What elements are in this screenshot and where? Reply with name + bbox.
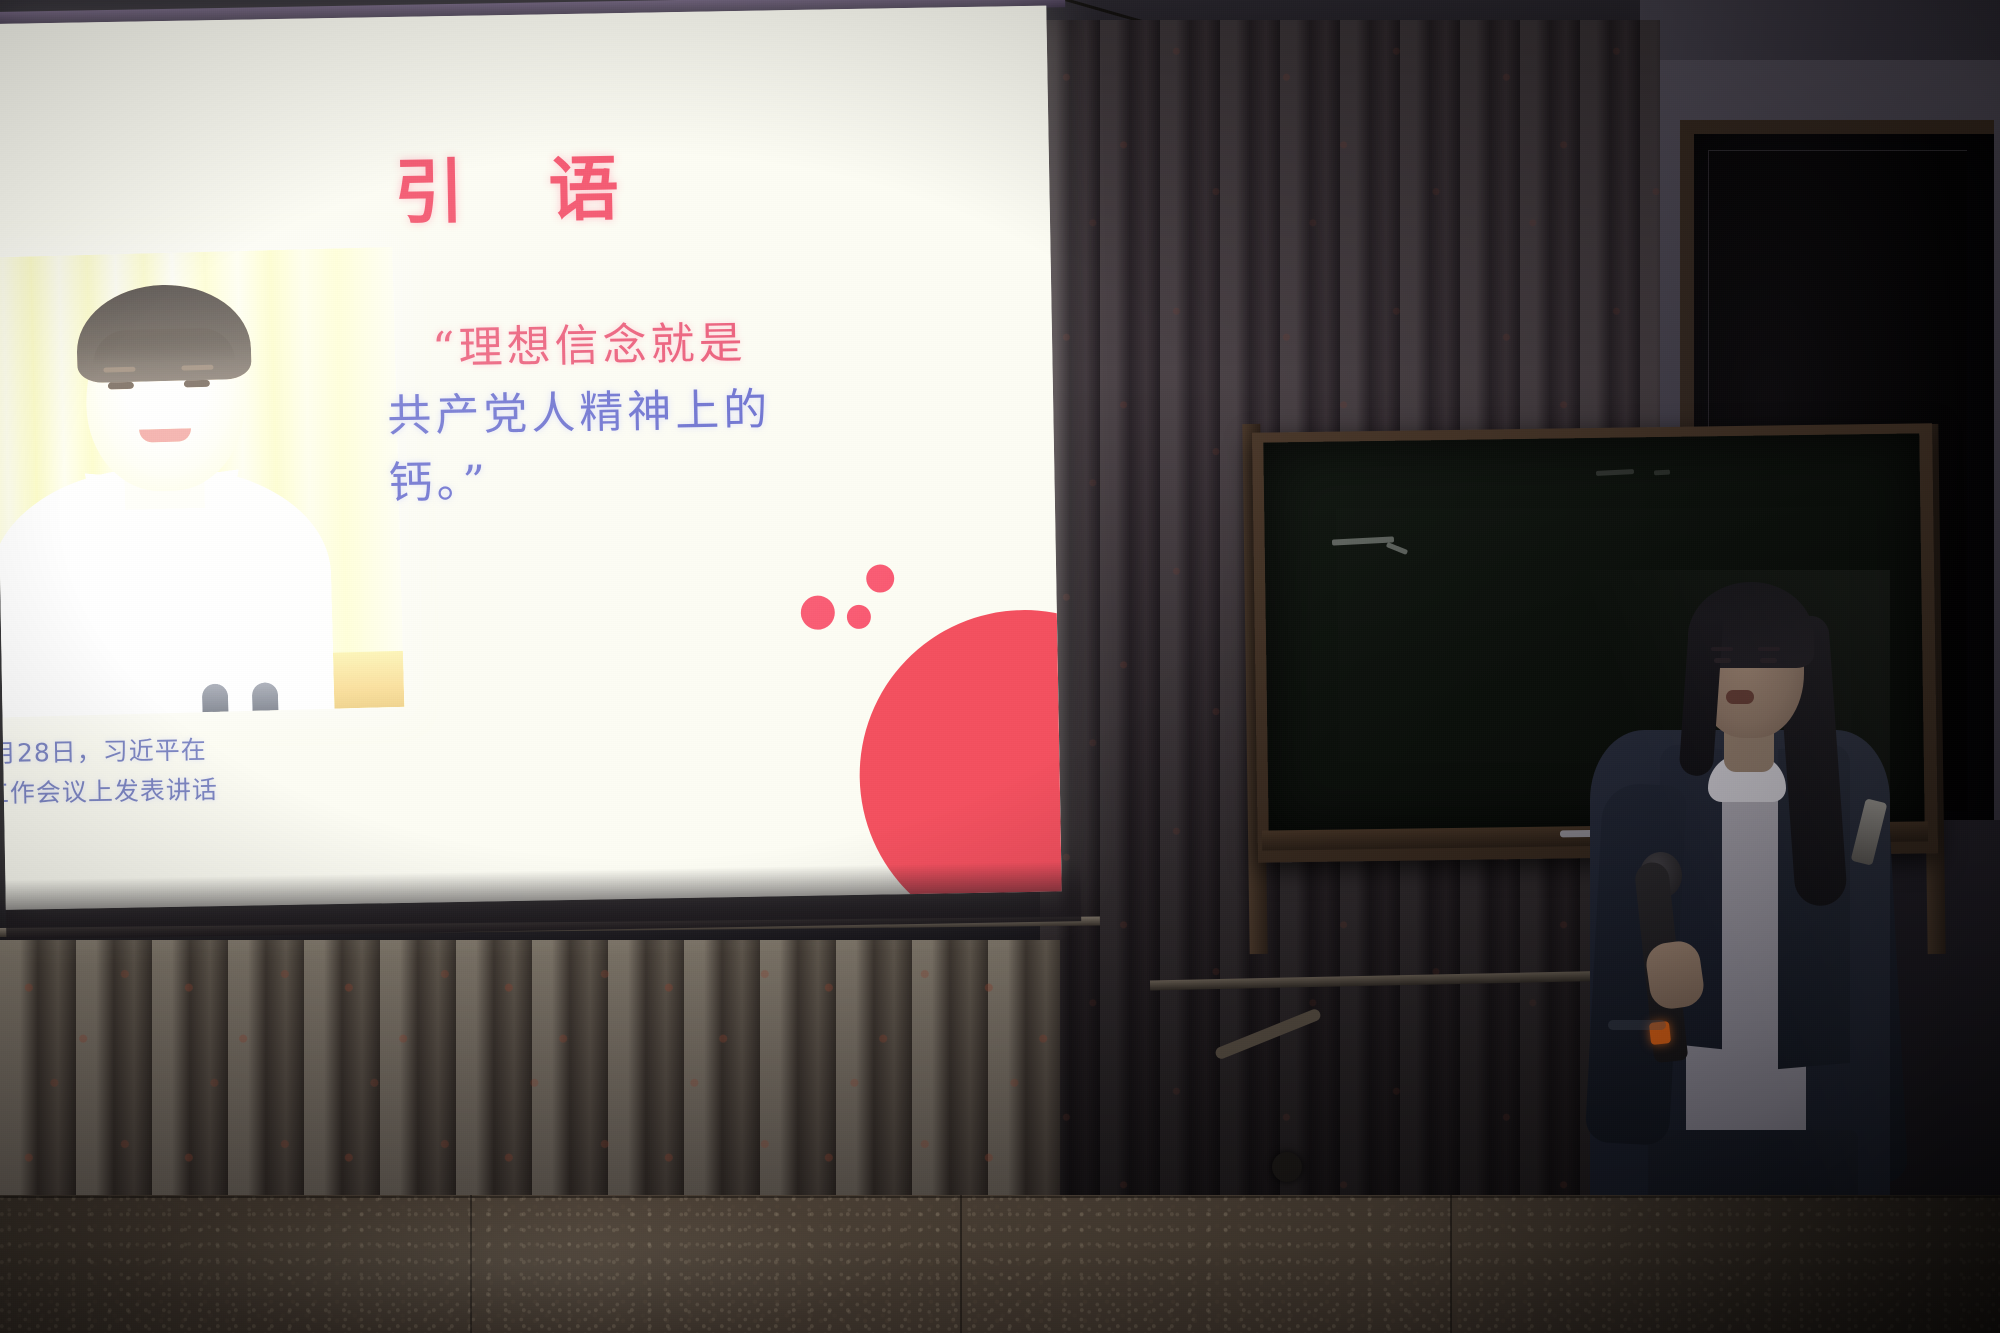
photo-brow-left (103, 367, 135, 373)
quote-line-1: “理想信念就是 (432, 307, 953, 383)
floor (0, 1195, 2000, 1333)
blackboard-wheel (1272, 1152, 1302, 1182)
presenter-eye-left (1714, 658, 1731, 663)
chalk-mark-4 (1654, 470, 1670, 476)
presenter-eye-right (1760, 658, 1777, 663)
photo-hair (75, 283, 251, 384)
presenter-mouth (1726, 690, 1754, 704)
presenter-brow-left (1711, 647, 1733, 651)
photo-brow-right (181, 365, 213, 371)
decor-dot-small-2 (847, 605, 871, 629)
slide-title: 引 语 (0, 126, 1050, 245)
floor-grout-line-1 (470, 1195, 472, 1333)
presenter-brow-right (1758, 647, 1780, 651)
photo-microphone-1 (202, 683, 229, 719)
quote-line-3: 钙。” (388, 441, 955, 518)
projection-screen: 引 语 (0, 0, 1081, 940)
decor-dot-small-1 (801, 595, 836, 630)
photo-microphone-2 (252, 682, 279, 719)
quote-line-2: 共产党人精神上的 (387, 374, 954, 451)
floor-grout-line-3 (1450, 1195, 1452, 1333)
photo-eye-left (108, 382, 134, 390)
curtain-lower-left (0, 940, 1060, 1210)
decor-dot-small-3 (866, 564, 894, 592)
floor-edge-line (0, 1196, 2000, 1198)
caption-line-2: 组织工作会议上发表讲话 (0, 766, 402, 814)
slide-caption: 3年6月28日，习近平在 组织工作会议上发表讲话 (0, 727, 402, 814)
slide-quote: “理想信念就是 共产党人精神上的 钙。” (432, 307, 955, 517)
photo-scene: 引 语 (0, 0, 2000, 1333)
speaker-photo (0, 247, 404, 719)
photo-eye-right (184, 380, 210, 388)
screen-surface: 引 语 (0, 6, 1062, 910)
presentation-slide: 引 语 (0, 6, 1062, 910)
presenter-coat-pocket (1608, 1020, 1666, 1030)
floor-grout-line-2 (960, 1195, 962, 1333)
